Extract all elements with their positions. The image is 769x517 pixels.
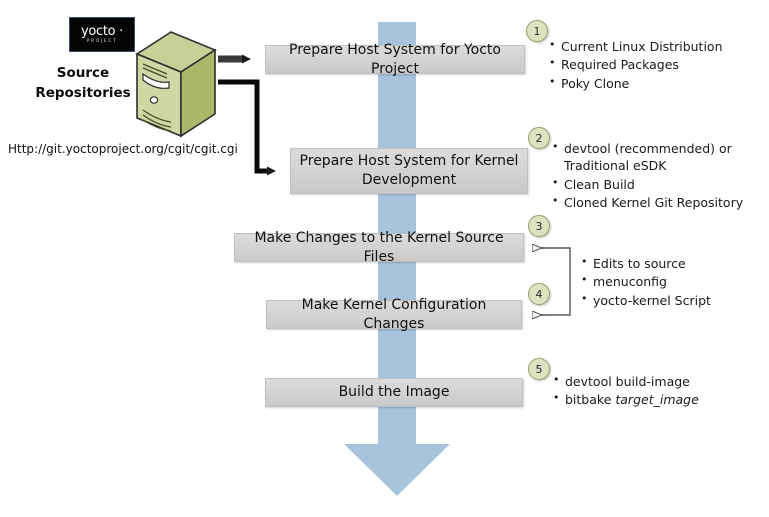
arrow-server-to-step2 [218,82,268,171]
step-box-build-image[interactable]: Build the Image [265,378,523,407]
step-number-1: 1 [526,20,548,42]
list-item: Current Linux Distribution [549,38,764,55]
step-box-prepare-host-yocto[interactable]: Prepare Host System for Yocto Project [265,45,525,74]
step-number-2: 2 [528,127,550,149]
bitbake-command-prefix: bitbake [565,392,615,407]
step1-bullet-list: Current Linux Distribution Required Pack… [549,38,764,93]
list-item: Cloned Kernel Git Repository [552,194,764,211]
bitbake-target-image-argument: target_image [615,392,698,407]
step-box-prepare-host-kernel[interactable]: Prepare Host System for Kernel Developme… [290,148,528,194]
logo-subtext: PROJECT [86,40,117,45]
server-tower-icon [133,28,219,140]
list-item: Edits to source [581,255,761,272]
list-item: Poky Clone [549,75,764,92]
source-repositories-label: Source Repositories [22,64,144,103]
step2-bullet-list: devtool (recommended) or Traditional eSD… [552,140,764,212]
list-item: bitbake target_image [553,391,753,408]
list-item: devtool (recommended) or Traditional eSD… [552,140,764,175]
logo-wordmark: yocto · [81,25,123,38]
source-label-line1: Source [22,64,144,84]
source-label-line2: Repositories [22,84,144,104]
step-number-3: 3 [528,215,550,237]
source-repository-url: Http://git.yoctoproject.org/cgit/cgit.cg… [8,142,238,156]
step-box-make-config-changes[interactable]: Make Kernel Configuration Changes [266,300,522,329]
flow-spine-arrow-icon [344,444,450,496]
step3-step4-bullet-list: Edits to source menuconfig yocto-kernel … [581,255,761,310]
step-number-5: 5 [528,358,550,380]
step5-bullet-list: devtool build-image bitbake target_image [553,373,753,410]
list-item: Clean Build [552,176,764,193]
list-item: yocto-kernel Script [581,292,761,309]
step-box-make-source-changes[interactable]: Make Changes to the Kernel Source Files [234,233,524,262]
list-item: devtool build-image [553,373,753,390]
list-item: menuconfig [581,273,761,290]
yocto-project-logo: yocto · PROJECT [69,17,135,52]
list-item: Required Packages [549,56,764,73]
step-number-4: 4 [528,283,550,305]
diagram-canvas: yocto · PROJECT Source Repositories Http… [0,0,769,517]
